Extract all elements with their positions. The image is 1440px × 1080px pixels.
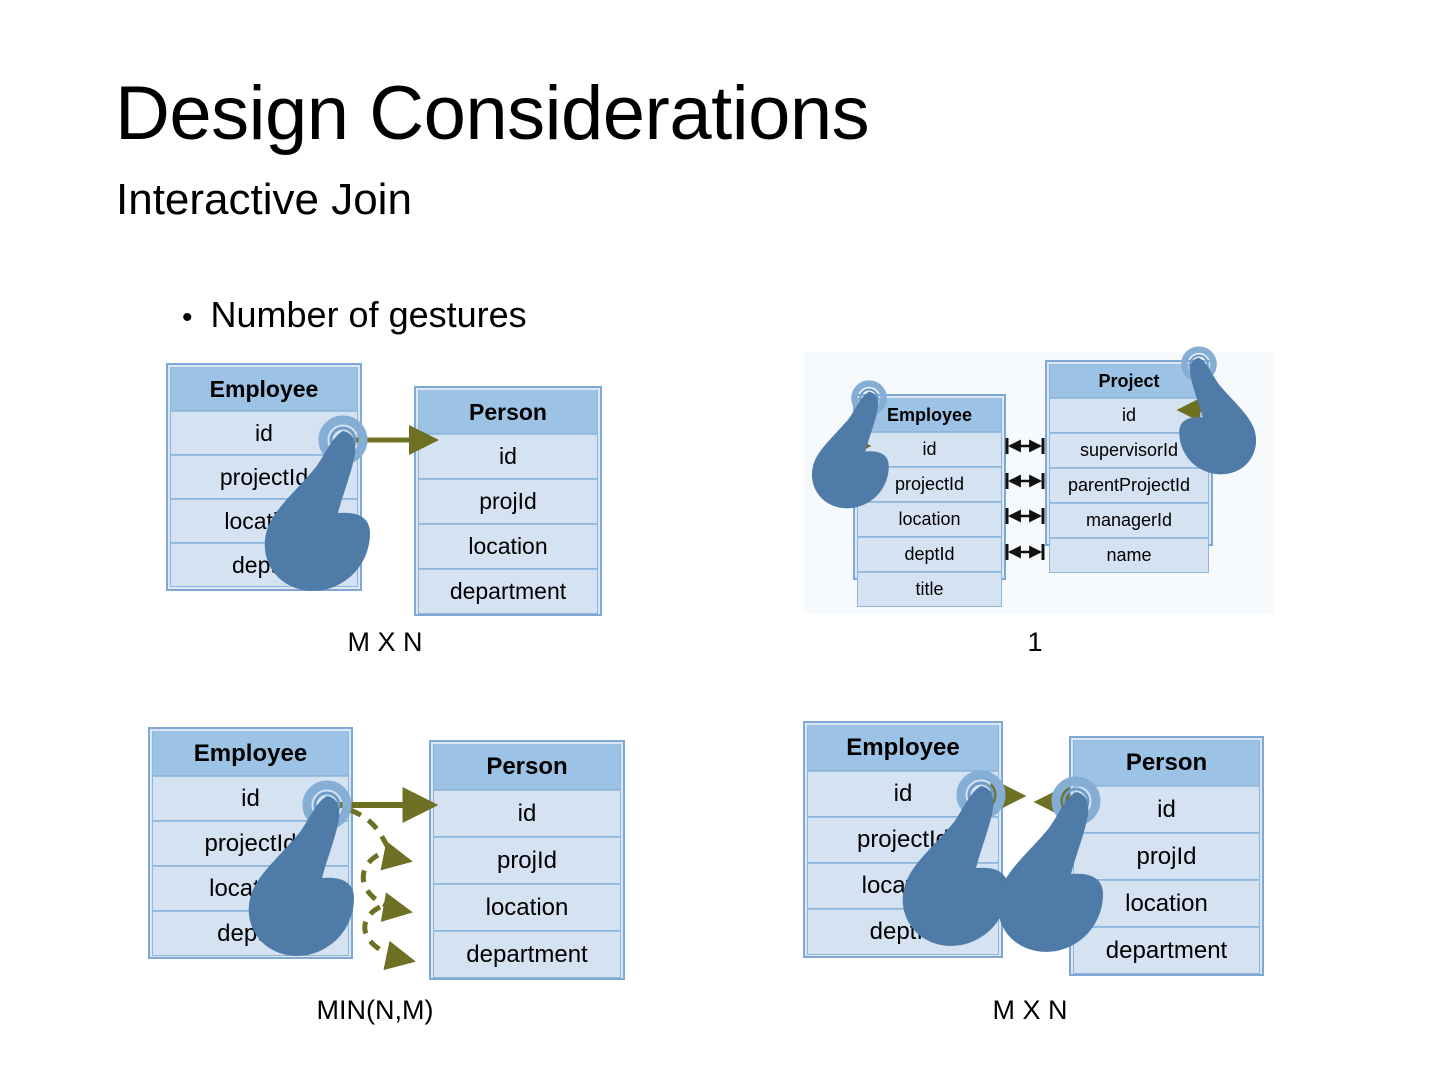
diagram-caption: 1 (965, 627, 1105, 658)
join-connectors (130, 715, 650, 1040)
bullet-list-item: • Number of gestures (182, 297, 527, 333)
diagram-caption: M X N (900, 995, 1160, 1026)
diagram-bottom-left: Employee id projectId location deptId Pe… (130, 715, 650, 1040)
page-title: Design Considerations (115, 76, 869, 152)
page-subtitle: Interactive Join (116, 178, 412, 222)
diagram-top-right: Employee id projectId location deptId ti… (790, 350, 1280, 675)
diagram-bottom-right: Employee id projectId location deptId Pe… (780, 710, 1300, 1040)
diagram-top-left: Employee id projectId location deptId Pe… (150, 355, 620, 675)
join-connectors (780, 710, 1300, 1040)
diagram-caption: M X N (270, 627, 500, 658)
bullet-marker-icon: • (182, 303, 193, 333)
diagram-caption: MIN(N,M) (245, 995, 505, 1026)
bullet-text: Number of gestures (211, 297, 527, 333)
